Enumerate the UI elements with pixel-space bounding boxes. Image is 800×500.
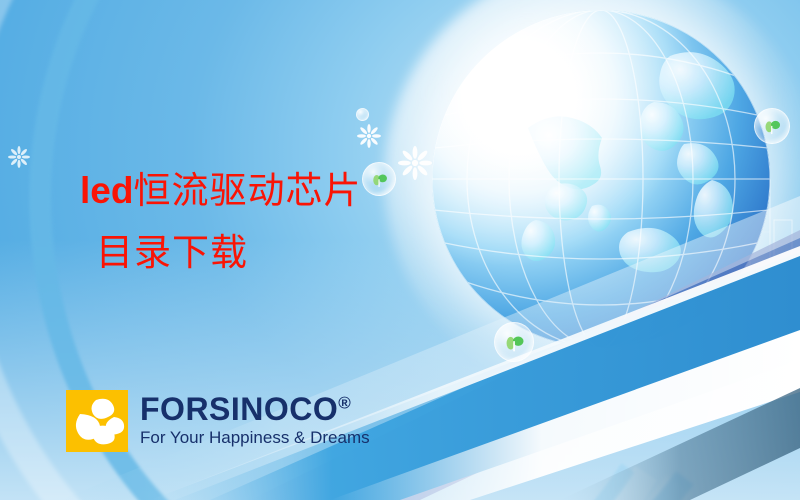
bubble-icon-small: [356, 108, 369, 121]
title-line-2: 目录下载: [80, 222, 361, 284]
company-logo[interactable]: FORSINOCO® For Your Happiness & Dreams: [66, 390, 370, 452]
globe-sphere: [432, 10, 770, 348]
sprout-icon: [761, 115, 783, 137]
registered-trademark-icon: ®: [338, 393, 351, 412]
banner-title: led恒流驱动芯片 目录下载: [80, 160, 361, 284]
bubble-icon-2: [494, 322, 534, 362]
four-petal-flower-icon: [66, 390, 128, 452]
bubble-icon-1: [362, 162, 396, 196]
bubble-icon-3: [754, 108, 790, 144]
flower-icon-1: [357, 124, 381, 148]
logo-tagline: For Your Happiness & Dreams: [140, 427, 370, 449]
title-line-1-latin: led: [80, 170, 133, 211]
logo-name-text: FORSINOCO: [140, 391, 338, 427]
sprout-icon: [502, 330, 526, 354]
title-line-1-cjk: 恒流驱动芯片: [133, 169, 361, 212]
sprout-icon: [369, 169, 390, 190]
logo-wordmark: FORSINOCO® For Your Happiness & Dreams: [140, 393, 370, 449]
flower-icon-2: [398, 146, 432, 180]
globe-highlight: [432, 10, 770, 348]
globe-icon: [432, 10, 770, 348]
title-line-1: led恒流驱动芯片: [80, 160, 361, 222]
logo-company-name: FORSINOCO®: [140, 393, 370, 425]
flower-icon-3: [8, 146, 30, 168]
promo-banner: led恒流驱动芯片 目录下载 FORSINOCO® For Your Happi…: [0, 0, 800, 500]
